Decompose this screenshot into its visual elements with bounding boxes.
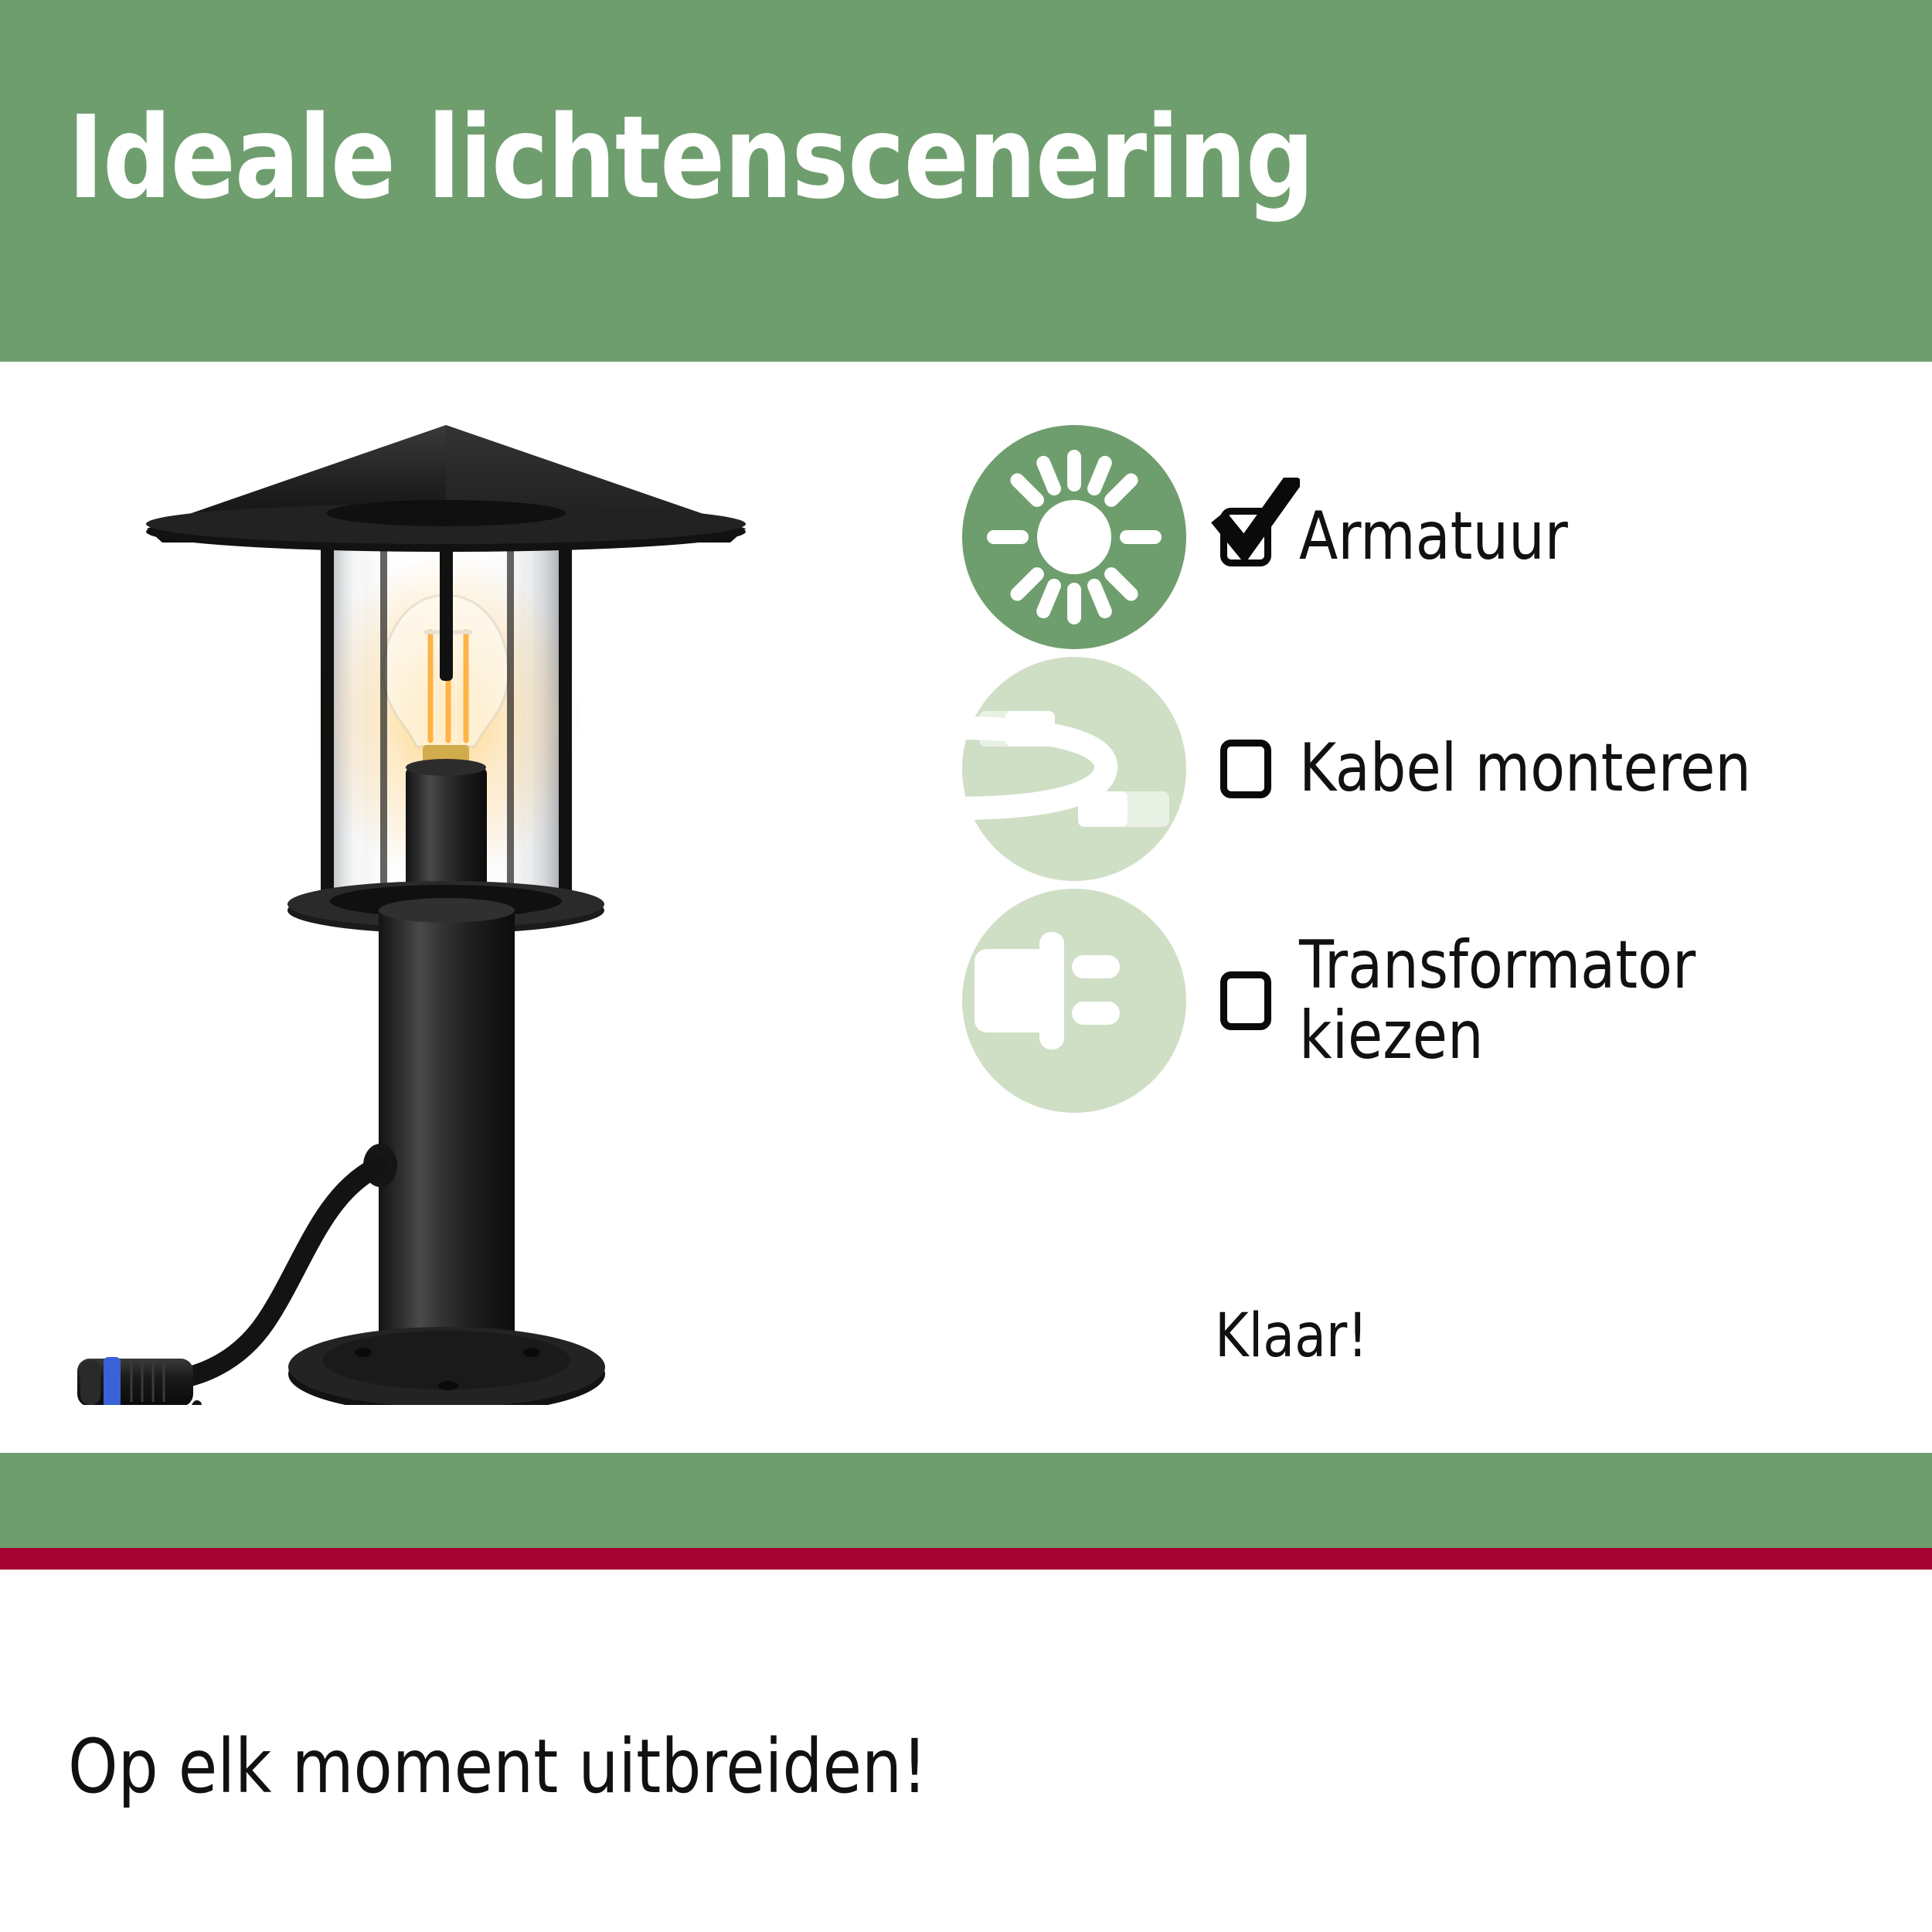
checklist-label-group: Kabel monteren xyxy=(1220,733,1775,804)
done-text: Klaar! xyxy=(1215,1301,1368,1371)
lamp-pole xyxy=(379,898,515,1366)
checklist-label-group: Armatuur xyxy=(1220,502,1582,572)
infographic-page: Ideale lichtenscenering xyxy=(0,0,1932,1932)
footer-text: Op elk moment uitbreiden! xyxy=(68,1723,927,1810)
plug-icon xyxy=(962,889,1186,1113)
checklist-label-group: Transformator kiezen xyxy=(1220,930,1716,1071)
header-band: Ideale lichtenscenering xyxy=(0,0,1932,362)
product-image-area xyxy=(0,362,927,1453)
checklist-item-armatuur[interactable]: Armatuur xyxy=(962,421,1913,653)
checklist-item-label: Kabel monteren xyxy=(1299,733,1751,804)
lamp-ground-flange xyxy=(288,1327,605,1405)
lamp-roof xyxy=(146,425,746,552)
sun-icon xyxy=(962,425,1186,649)
page-title: Ideale lichtenscenering xyxy=(68,100,1314,215)
cable-connector xyxy=(77,1357,197,1405)
bottom-red-band xyxy=(0,1548,1932,1570)
checkbox-kabel[interactable] xyxy=(1220,740,1271,798)
bollard-lamp-illustration xyxy=(46,377,896,1405)
sun-icon-circle xyxy=(962,425,1186,649)
bottom-green-band xyxy=(0,1453,1932,1548)
checklist-item-transformator[interactable]: Transformator kiezen xyxy=(962,885,1913,1117)
checklist-item-label: Armatuur xyxy=(1299,502,1568,572)
checklist-item-label: Transformator kiezen xyxy=(1299,930,1696,1071)
checkbox-armatuur[interactable] xyxy=(1220,508,1271,566)
plug-icon-circle xyxy=(962,889,1186,1113)
cable-icon xyxy=(962,657,1186,881)
checkbox-transformator[interactable] xyxy=(1220,971,1271,1030)
checkmark-icon xyxy=(1210,478,1300,567)
installation-checklist: Armatuur Kabel monteren xyxy=(962,421,1913,1117)
checklist-item-kabel[interactable]: Kabel monteren xyxy=(962,653,1913,885)
cable-icon-circle xyxy=(962,657,1186,881)
